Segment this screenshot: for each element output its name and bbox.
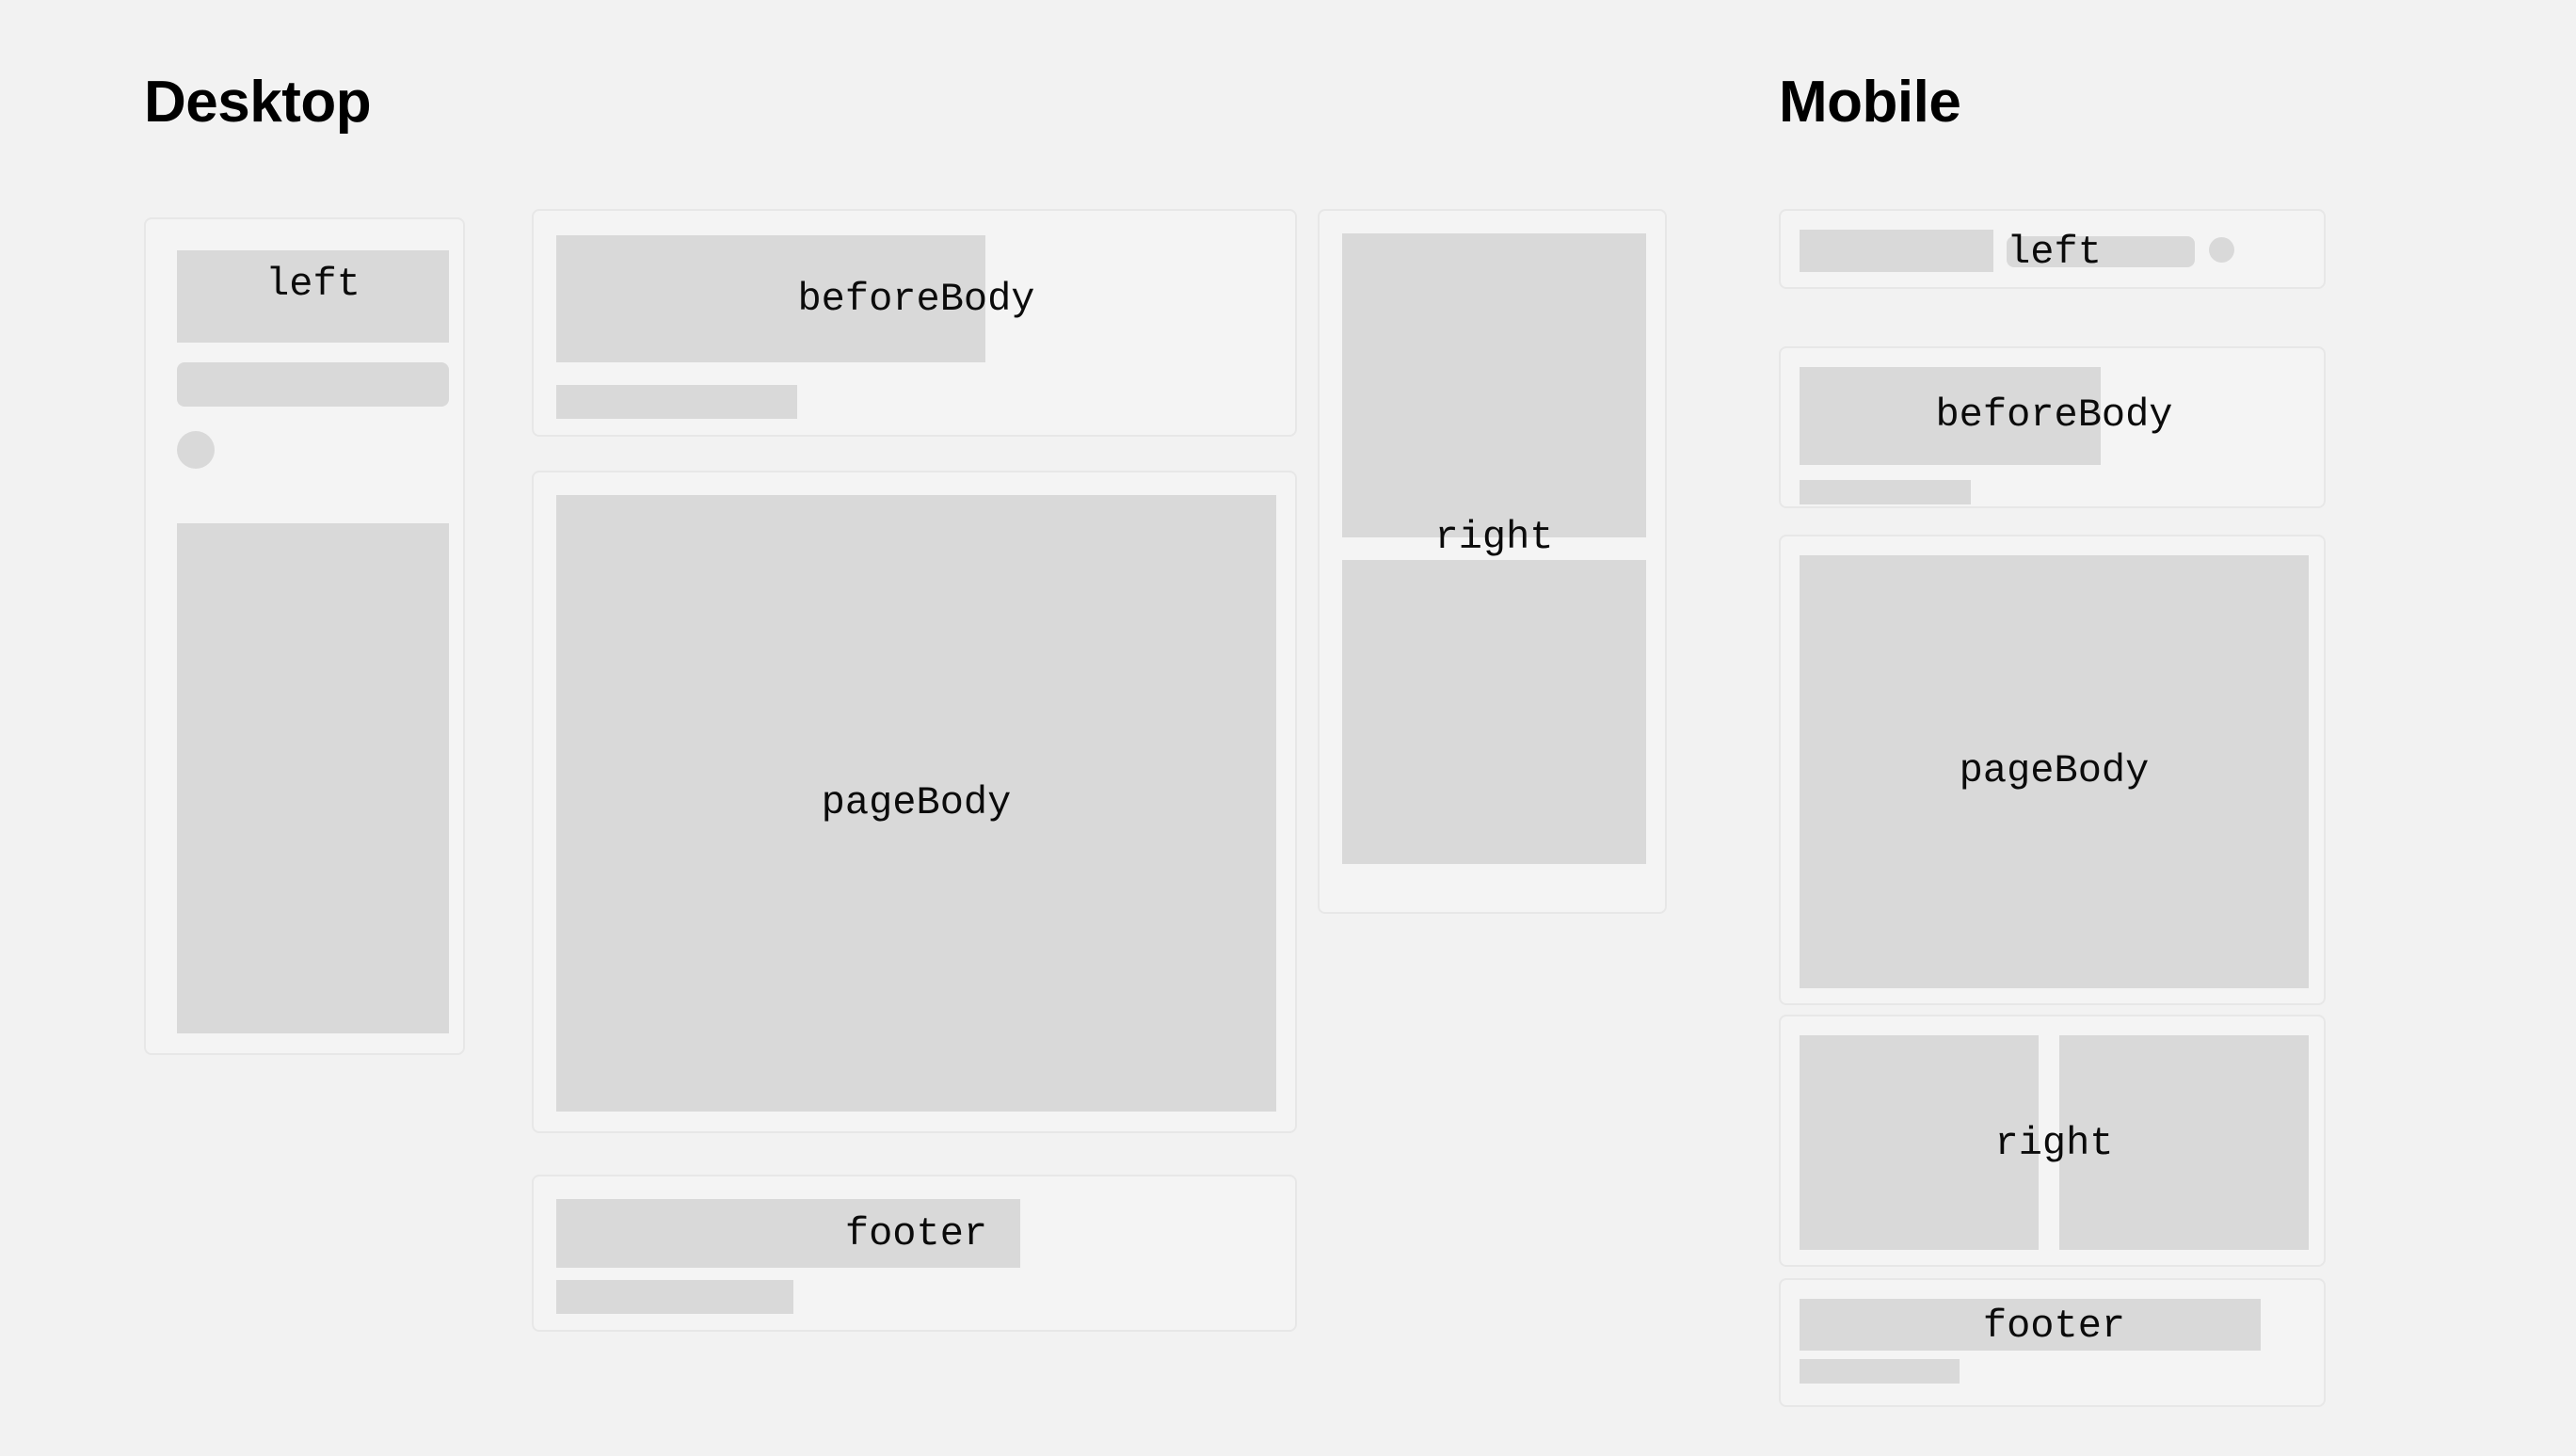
placeholder-block — [1800, 1035, 2039, 1250]
desktop-before-body-card[interactable]: beforeBody — [532, 209, 1297, 437]
placeholder-block — [2059, 1035, 2309, 1250]
placeholder-block — [1800, 1299, 2261, 1351]
placeholder-block — [177, 250, 449, 343]
placeholder-block-small — [1800, 1359, 1960, 1384]
page-title-desktop: Desktop — [144, 73, 371, 132]
placeholder-block — [1342, 560, 1646, 864]
placeholder-block — [556, 1199, 1020, 1268]
placeholder-block — [1342, 233, 1646, 537]
desktop-page-body-card[interactable]: pageBody — [532, 471, 1297, 1133]
placeholder-pill — [2007, 236, 2195, 267]
desktop-footer-card[interactable]: footer — [532, 1175, 1297, 1332]
placeholder-block — [1800, 555, 2309, 988]
page-title-mobile: Mobile — [1779, 73, 1960, 132]
desktop-right-card[interactable]: right — [1318, 209, 1667, 914]
placeholder-block-small — [556, 1280, 793, 1314]
placeholder-avatar-circle — [177, 431, 215, 469]
mobile-left-card[interactable]: left — [1779, 209, 2326, 289]
placeholder-block — [556, 495, 1276, 1112]
mobile-right-card[interactable]: right — [1779, 1015, 2326, 1267]
mobile-before-body-card[interactable]: beforeBody — [1779, 346, 2326, 508]
desktop-left-card[interactable]: left — [144, 217, 465, 1055]
placeholder-block-small — [556, 385, 797, 419]
mobile-footer-card[interactable]: footer — [1779, 1278, 2326, 1407]
placeholder-block — [177, 523, 449, 1033]
placeholder-avatar-circle — [2209, 237, 2234, 263]
placeholder-pill — [177, 362, 449, 407]
placeholder-block — [556, 235, 985, 362]
placeholder-block — [1800, 367, 2101, 465]
mobile-page-body-card[interactable]: pageBody — [1779, 535, 2326, 1005]
layout-preview-stage: Desktop left beforeBody pageBody right f… — [0, 0, 2576, 1456]
placeholder-block-small — [1800, 480, 1971, 504]
placeholder-block — [1800, 230, 1993, 272]
